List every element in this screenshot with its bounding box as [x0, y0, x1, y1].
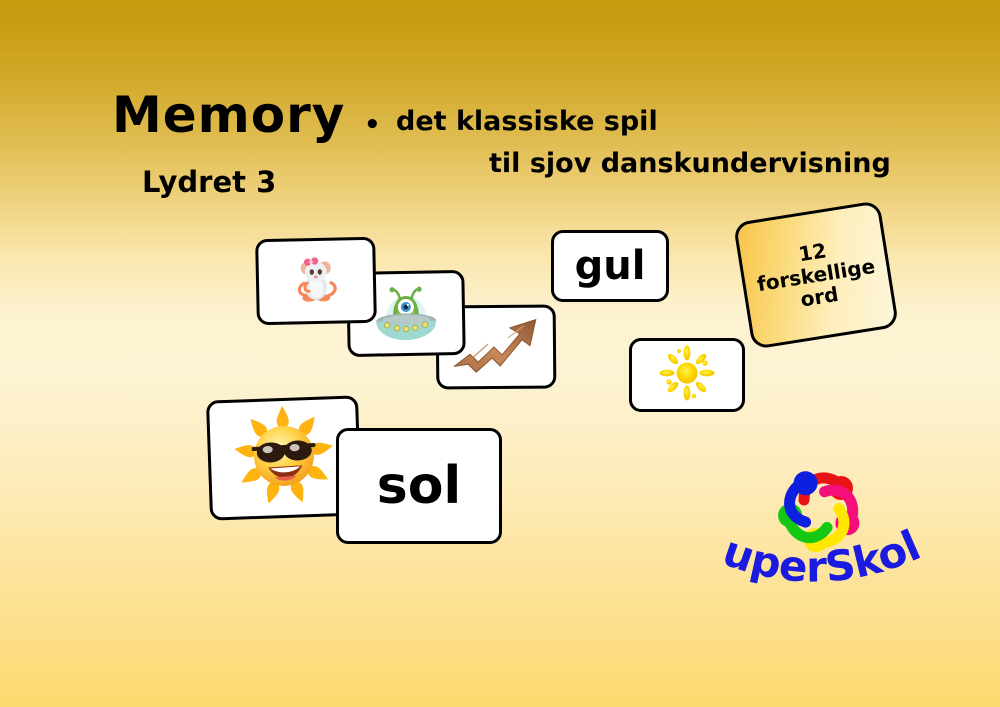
card-word-label: gul: [575, 243, 646, 289]
bullet-icon: •: [364, 112, 381, 138]
memory-card-splat[interactable]: [629, 338, 745, 412]
page-title: Memory: [112, 86, 345, 144]
word-count-badge: 12 forskellige ord: [733, 200, 899, 350]
tagline-line-2: til sjov danskundervisning: [489, 148, 891, 179]
sun-sunglasses-icon: [230, 402, 338, 514]
memory-card-mouse[interactable]: [255, 237, 377, 325]
card-word-label: sol: [377, 456, 462, 516]
ufo-alien-icon: [372, 279, 439, 348]
svg-text:SuperSkole: SuperSkole: [700, 448, 927, 592]
superskole-logo: SuperSkole: [700, 448, 940, 598]
slide-canvas: Memory Lydret 3 • det klassiske spil til…: [0, 0, 1000, 707]
memory-card-gul[interactable]: gul: [551, 230, 669, 302]
page-subtitle: Lydret 3: [142, 165, 276, 199]
tagline-line-1: det klassiske spil: [396, 106, 658, 137]
yellow-splat-icon: [658, 344, 716, 406]
memory-card-sol[interactable]: sol: [336, 428, 502, 544]
logo-wordmark: SuperSkole: [700, 448, 927, 592]
mouse-icon: [283, 246, 348, 315]
badge-line-3: ord: [799, 283, 840, 311]
